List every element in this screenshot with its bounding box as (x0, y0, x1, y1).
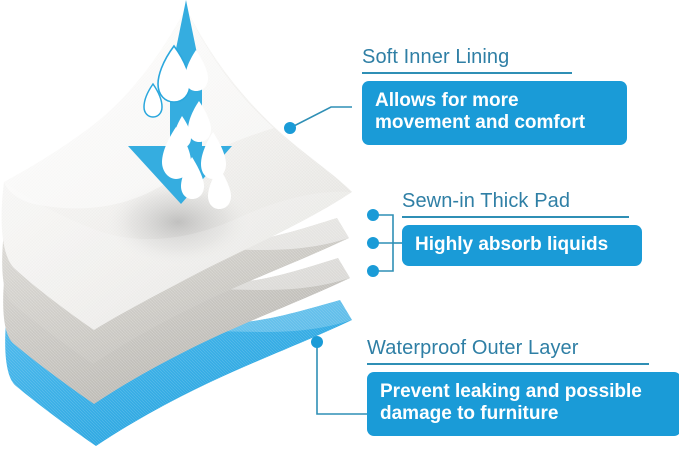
callout-waterproof-outer-layer: Waterproof Outer Layer Prevent leaking a… (367, 337, 679, 436)
callout-heading: Sewn-in Thick Pad (402, 190, 662, 212)
connector-dot-mid-3 (367, 265, 379, 277)
callout-box: Allows for more movement and comfort (362, 81, 627, 145)
callout-box-line2: damage to furniture (380, 403, 668, 425)
callout-box-line1: Prevent leaking and possible (380, 381, 668, 403)
callout-rule (367, 363, 649, 365)
callout-sewn-in-thick-pad: Sewn-in Thick Pad Highly absorb liquids (402, 190, 662, 266)
callout-heading: Waterproof Outer Layer (367, 337, 679, 359)
callout-box-line1: Allows for more (375, 90, 614, 112)
callout-rule (402, 216, 629, 218)
callout-box: Prevent leaking and possible damage to f… (367, 372, 679, 436)
layered-pad-illustration (0, 0, 360, 455)
connector-dot-mid-2 (367, 237, 379, 249)
infographic-root: Soft Inner Lining Allows for more moveme… (0, 0, 679, 455)
callout-soft-inner-lining: Soft Inner Lining Allows for more moveme… (362, 46, 662, 145)
callout-box: Highly absorb liquids (402, 225, 642, 266)
connector-dot-mid-1 (367, 209, 379, 221)
callout-rule (362, 72, 572, 74)
connector-bracket-mid (373, 215, 393, 271)
callout-box-line1: Highly absorb liquids (415, 234, 629, 256)
callout-box-line2: movement and comfort (375, 112, 614, 134)
callout-heading: Soft Inner Lining (362, 46, 662, 68)
